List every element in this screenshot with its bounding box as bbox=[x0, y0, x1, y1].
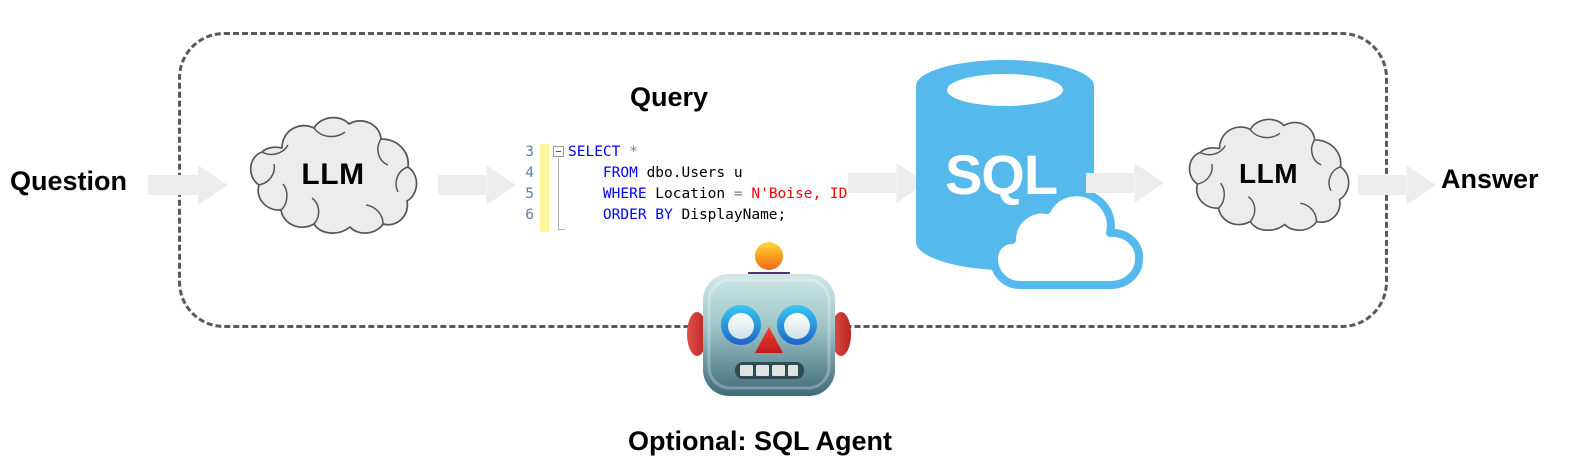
code-line-number: 4 bbox=[518, 163, 534, 184]
arrow-sql-to-llm bbox=[1086, 163, 1164, 203]
code-line: ORDER BY DisplayName; bbox=[568, 205, 786, 226]
arrow-question-to-llm bbox=[148, 165, 228, 205]
llm-node-right: LLM bbox=[1176, 114, 1361, 234]
code-token: WHERE bbox=[603, 186, 647, 202]
code-token: Location bbox=[647, 186, 734, 202]
code-token: DisplayName; bbox=[673, 207, 787, 223]
code-token: FROM bbox=[603, 165, 638, 181]
code-line-number: 3 bbox=[518, 142, 534, 163]
arrow-llm-to-answer bbox=[1358, 165, 1436, 205]
code-token bbox=[620, 144, 629, 160]
code-line-number: 6 bbox=[518, 205, 534, 226]
editor-change-bar bbox=[540, 144, 549, 232]
llm-node-left: LLM bbox=[238, 112, 428, 237]
cloud-icon bbox=[238, 112, 428, 237]
code-region-line bbox=[558, 158, 559, 230]
code-line: SELECT * bbox=[568, 142, 638, 163]
code-token: dbo.Users u bbox=[638, 165, 743, 181]
sql-code-block: SELECT * FROM dbo.Users u WHERE Location… bbox=[518, 142, 838, 240]
code-line-number: 5 bbox=[518, 184, 534, 205]
answer-label: Answer bbox=[1441, 164, 1539, 195]
code-token: N'Boise, ID' bbox=[751, 186, 856, 202]
query-label: Query bbox=[630, 82, 708, 113]
code-token bbox=[568, 165, 603, 181]
robot-agent-icon bbox=[682, 238, 857, 413]
code-collapse-toggle-icon[interactable] bbox=[553, 146, 564, 157]
code-line: WHERE Location = N'Boise, ID' bbox=[568, 184, 856, 205]
code-token bbox=[568, 207, 603, 223]
code-token bbox=[568, 186, 603, 202]
code-token: ORDER BY bbox=[603, 207, 673, 223]
sql-agent-label: Optional: SQL Agent bbox=[628, 426, 892, 457]
code-line: FROM dbo.Users u bbox=[568, 163, 743, 184]
arrow-llm-to-query bbox=[438, 165, 516, 205]
code-token: = bbox=[734, 186, 743, 202]
cloud-icon bbox=[1176, 114, 1361, 234]
code-region-foot bbox=[558, 229, 565, 230]
code-token: * bbox=[629, 144, 638, 160]
code-token: SELECT bbox=[568, 144, 620, 160]
diagram-canvas: Question LLM Query SELECT * FROM dbo.Use… bbox=[0, 0, 1571, 470]
question-label: Question bbox=[10, 166, 127, 197]
robot-antenna-ball bbox=[755, 242, 783, 270]
